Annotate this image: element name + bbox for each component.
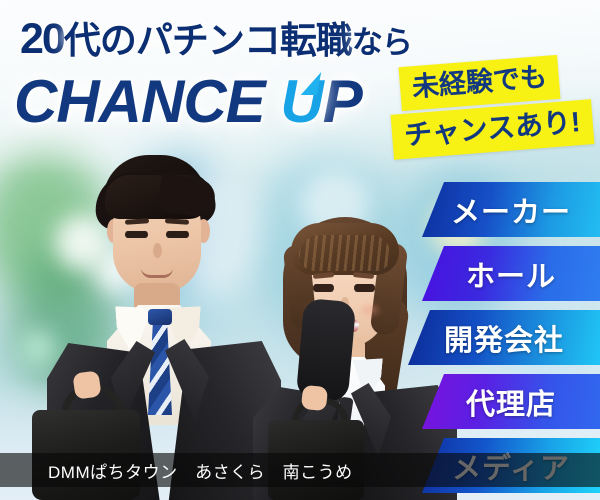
- category-list: メーカー ホール 開発会社 代理店 メディア: [0, 0, 600, 500]
- category-button-hall[interactable]: ホール: [422, 246, 600, 301]
- category-label: メーカー: [451, 189, 571, 231]
- category-button-maker[interactable]: メーカー: [422, 182, 600, 237]
- category-label: 代理店: [466, 381, 556, 423]
- category-button-development-company[interactable]: 開発会社: [408, 310, 600, 365]
- caption-text: DMMぱちタウン あさくら 南こうめ: [48, 458, 353, 483]
- banner: 20代のパチンコ転職なら CHANCE UP 未経験でも チャンスあり! メーカ…: [0, 0, 600, 500]
- caption-bar: DMMぱちタウン あさくら 南こうめ: [0, 453, 600, 487]
- category-button-agency[interactable]: 代理店: [422, 374, 600, 429]
- category-label: 開発会社: [444, 317, 564, 359]
- category-label: ホール: [466, 253, 556, 295]
